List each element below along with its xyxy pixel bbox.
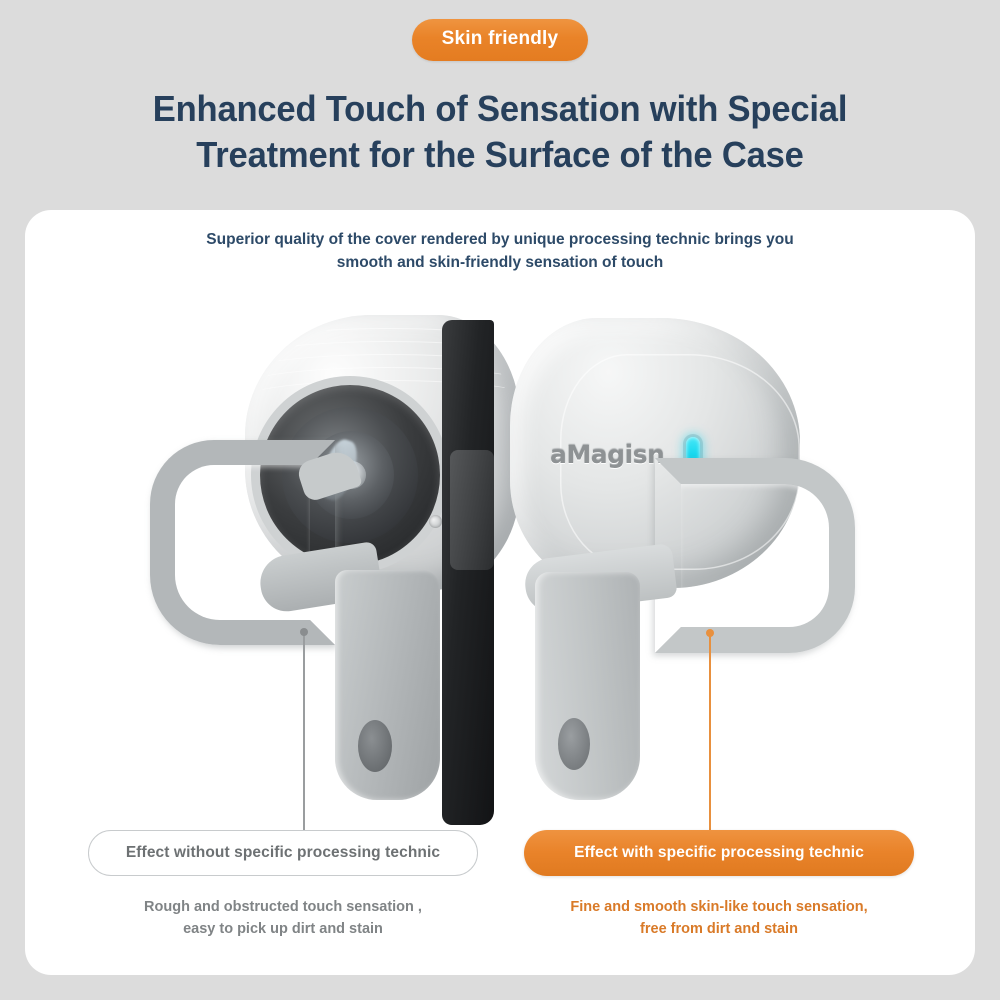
label-without-processing: Effect without specific processing techn…	[88, 830, 478, 876]
label-with-processing: Effect with specific processing technic	[524, 830, 914, 876]
mount-leg-right-hole	[558, 718, 590, 770]
product-illustration: aMagisn	[150, 300, 870, 830]
product-half-untreated	[150, 300, 530, 830]
subtitle-line-2: smooth and skin-friendly sensation of to…	[0, 251, 1000, 274]
mount-leg-right	[535, 572, 640, 800]
product-half-treated: aMagisn	[480, 300, 870, 830]
badge-container: Skin friendly	[0, 0, 1000, 80]
page-title-line-2: Treatment for the Surface of the Case	[20, 132, 980, 178]
mount-hook-right	[655, 458, 855, 653]
caption-right-line-1: Fine and smooth skin-like touch sensatio…	[524, 896, 914, 918]
subtitle: Superior quality of the cover rendered b…	[0, 228, 1000, 275]
caption-right-line-2: free from dirt and stain	[524, 918, 914, 940]
caption-left-line-1: Rough and obstructed touch sensation ,	[88, 896, 478, 918]
leader-line-left	[303, 632, 305, 830]
mount-leg-left	[335, 570, 440, 800]
leader-dot-right	[706, 629, 714, 637]
page-title: Enhanced Touch of Sensation with Special…	[20, 86, 980, 178]
caption-left-line-2: easy to pick up dirt and stain	[88, 918, 478, 940]
subtitle-line-1: Superior quality of the cover rendered b…	[0, 228, 1000, 251]
skin-friendly-badge: Skin friendly	[412, 19, 589, 61]
lens-side-sensor	[429, 515, 442, 528]
brand-logo: aMagisn	[550, 440, 664, 469]
leader-line-right	[709, 633, 711, 830]
mount-leg-left-hole	[358, 720, 392, 772]
caption-with-processing: Fine and smooth skin-like touch sensatio…	[524, 896, 914, 941]
leader-dot-left	[300, 628, 308, 636]
page-title-line-1: Enhanced Touch of Sensation with Special	[20, 86, 980, 132]
caption-without-processing: Rough and obstructed touch sensation , e…	[88, 896, 478, 941]
